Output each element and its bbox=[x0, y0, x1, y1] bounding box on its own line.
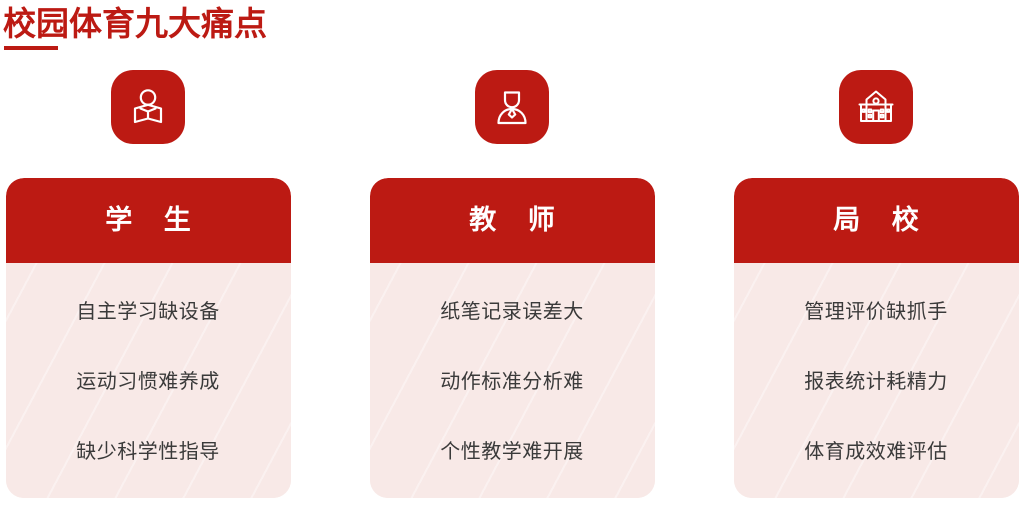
list-item: 个性教学难开展 bbox=[440, 441, 584, 461]
card-header-teacher: 教 师 bbox=[370, 178, 655, 263]
column-student: 学 生 自主学习缺设备 运动习惯难养成 缺少科学性指导 bbox=[3, 70, 293, 498]
list-item: 运动习惯难养成 bbox=[76, 371, 220, 391]
card-header-school: 局 校 bbox=[734, 178, 1019, 263]
card-school: 局 校 管理评价缺抓手 报表统计耗精力 体育成效难评估 bbox=[734, 178, 1019, 498]
student-icon-badge bbox=[111, 70, 185, 144]
list-item: 报表统计耗精力 bbox=[804, 371, 948, 391]
card-body-school: 管理评价缺抓手 报表统计耗精力 体育成效难评估 bbox=[734, 263, 1019, 498]
pain-point-columns: 学 生 自主学习缺设备 运动习惯难养成 缺少科学性指导 教 师 bbox=[0, 70, 1024, 523]
column-teacher: 教 师 纸笔记录误差大 动作标准分析难 个性教学难开展 bbox=[367, 70, 657, 498]
school-icon-badge bbox=[839, 70, 913, 144]
list-item: 管理评价缺抓手 bbox=[804, 301, 948, 321]
card-body-teacher: 纸笔记录误差大 动作标准分析难 个性教学难开展 bbox=[370, 263, 655, 498]
card-teacher: 教 师 纸笔记录误差大 动作标准分析难 个性教学难开展 bbox=[370, 178, 655, 498]
column-school: 局 校 管理评价缺抓手 报表统计耗精力 体育成效难评估 bbox=[731, 70, 1021, 498]
teacher-icon-badge bbox=[475, 70, 549, 144]
card-header-label: 学 生 bbox=[94, 207, 201, 234]
list-item: 体育成效难评估 bbox=[804, 441, 948, 461]
card-header-student: 学 生 bbox=[6, 178, 291, 263]
page-title: 校园体育九大痛点 bbox=[3, 4, 267, 44]
card-header-label: 局 校 bbox=[822, 207, 929, 234]
list-item: 自主学习缺设备 bbox=[76, 301, 220, 321]
list-item: 动作标准分析难 bbox=[440, 371, 584, 391]
card-student: 学 生 自主学习缺设备 运动习惯难养成 缺少科学性指导 bbox=[6, 178, 291, 498]
card-header-label: 教 师 bbox=[458, 207, 565, 234]
list-item: 缺少科学性指导 bbox=[76, 441, 220, 461]
list-item: 纸笔记录误差大 bbox=[440, 301, 584, 321]
teacher-person-icon bbox=[491, 86, 533, 128]
title-underline bbox=[4, 46, 58, 50]
student-reading-icon bbox=[127, 86, 169, 128]
card-body-student: 自主学习缺设备 运动习惯难养成 缺少科学性指导 bbox=[6, 263, 291, 498]
school-building-icon bbox=[855, 86, 897, 128]
